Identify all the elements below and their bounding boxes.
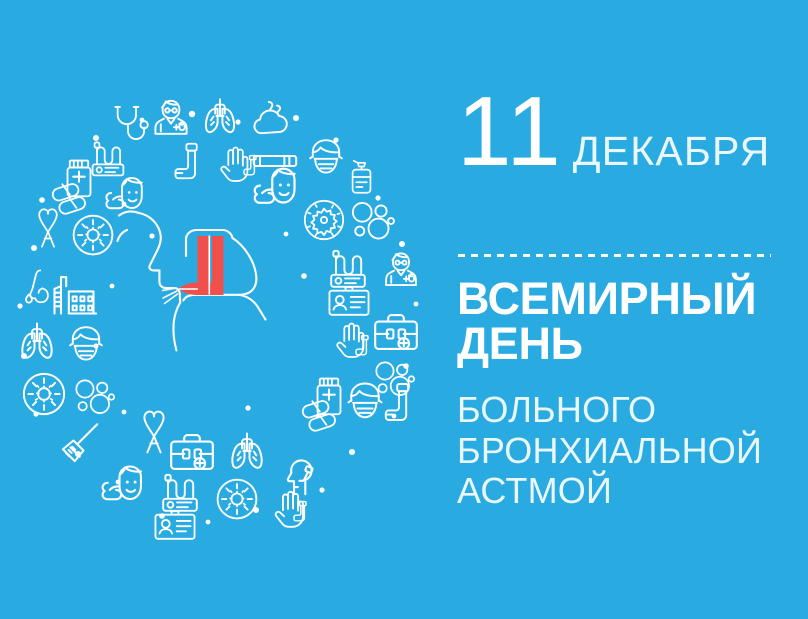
subhead: БОЛЬНОГО БРОНХИАЛЬНОЙ АСТМОЙ — [457, 390, 797, 512]
inhaler-icon — [386, 384, 408, 420]
illustration-circular-icon-collage — [0, 78, 440, 548]
lungs-icon — [206, 99, 234, 132]
stop-hand-icon — [337, 324, 363, 358]
lungs-icon — [232, 434, 261, 468]
center-scene-face-inhaler — [118, 212, 266, 351]
nebulizer-icon — [163, 475, 197, 511]
coughing-face-icon — [103, 467, 141, 500]
first-aid-kit-icon — [375, 315, 417, 349]
headline: ВСЕМИРНЫЙ ДЕНЬ — [457, 277, 787, 366]
subhead-line-1: БОЛЬНОГО — [457, 390, 797, 431]
cigarette-icon — [254, 156, 297, 166]
inhaler-icon — [294, 502, 306, 521]
spray-bottle-icon — [353, 161, 371, 193]
runny-nose-icon — [26, 270, 48, 302]
smoke-cloud-icon — [254, 102, 286, 133]
stethoscope-icon — [115, 107, 147, 139]
headline-line-1: ВСЕМИРНЫЙ — [457, 277, 787, 322]
first-aid-kit-icon — [171, 435, 213, 469]
virus-icon — [218, 480, 257, 519]
head-profile-inhaler-icon — [288, 460, 313, 494]
virus-icon — [24, 374, 64, 414]
stop-hand-icon — [276, 492, 303, 527]
subhead-line-3: АСТМОЙ — [457, 471, 797, 512]
virus-icon — [74, 216, 113, 255]
date-row: 11 ДЕКАБРЯ — [457, 86, 770, 176]
date-month: ДЕКАБРЯ — [573, 128, 771, 175]
headline-line-2: ДЕНЬ — [457, 322, 787, 367]
date-day: 11 — [457, 86, 563, 176]
awareness-ribbon-icon — [144, 412, 163, 453]
doctor-icon — [386, 253, 416, 285]
nebulizer-icon — [331, 251, 365, 287]
decorative-dots — [17, 111, 418, 525]
soap-bubbles-icon — [76, 380, 114, 413]
awareness-ribbon-icon — [39, 209, 57, 246]
stop-hand-icon — [221, 148, 247, 182]
respirator-mask-face-icon — [310, 140, 342, 172]
text-column: 11 ДЕКАБРЯ ВСЕМИРНЫЙ ДЕНЬ БОЛЬНОГО БРОНХ… — [457, 0, 787, 619]
coughing-face-icon — [255, 169, 295, 203]
respirator-mask-face-icon — [70, 327, 102, 359]
id-card-icon — [329, 287, 368, 315]
lungs-icon — [22, 324, 51, 358]
doctor-icon — [155, 101, 186, 134]
subhead-line-2: БРОНХИАЛЬНОЙ — [457, 431, 797, 472]
factory-pollution-icon — [55, 277, 97, 313]
nebulizer-icon — [93, 142, 124, 175]
respirator-mask-face-icon — [349, 384, 382, 418]
pollen-grain-icon — [305, 201, 343, 239]
inhaler-icon — [175, 144, 196, 179]
dashed-divider — [458, 254, 771, 257]
poster-canvas: 11 ДЕКАБРЯ ВСЕМИРНЫЙ ДЕНЬ БОЛЬНОГО БРОНХ… — [0, 0, 808, 619]
soap-bubbles-icon — [353, 203, 394, 239]
illustration-svg — [0, 78, 440, 548]
capsule-pills-icon — [51, 182, 86, 215]
